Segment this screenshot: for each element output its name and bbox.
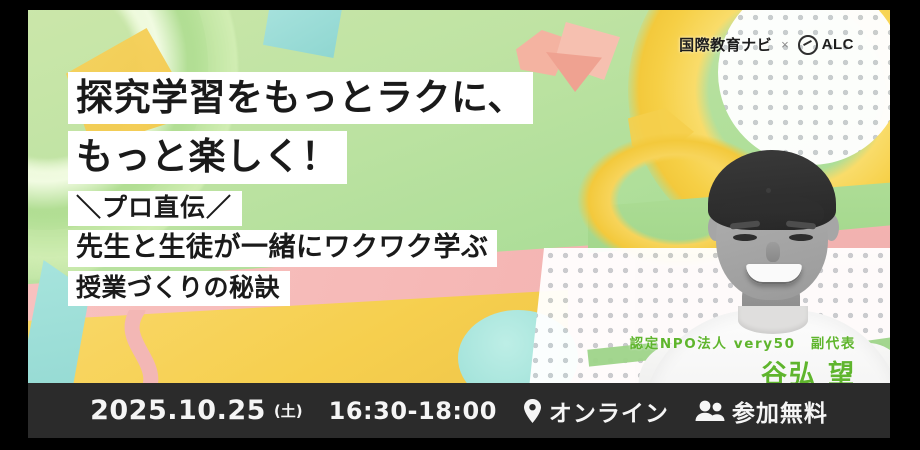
event-banner: 国際教育ナビ × ALC 探究学習をもっとラクに、 もっと楽しく！ ＼プロ直伝／… <box>28 10 890 438</box>
portrait-nose <box>766 242 780 262</box>
event-details-bar: 2025.10.25 (土) 16:30-18:00 オンライン <box>28 383 890 438</box>
portrait-hair <box>708 150 836 230</box>
partner-logos: 国際教育ナビ × ALC <box>679 34 854 55</box>
speaker-role: 認定NPO法人 very50 副代表 <box>630 332 856 352</box>
event-time: 16:30-18:00 <box>329 397 497 425</box>
event-price-group: 参加無料 <box>695 394 828 428</box>
screenshot-root: 国際教育ナビ × ALC 探究学習をもっとラクに、 もっと楽しく！ ＼プロ直伝／… <box>0 0 920 450</box>
logo-kokusai-kyoiku-navi: 国際教育ナビ <box>679 34 772 55</box>
portrait-eye-left <box>733 234 757 241</box>
headline-line-2: もっと楽しく！ <box>68 131 347 183</box>
logo-separator-x: × <box>781 37 789 52</box>
portrait-eye-right <box>789 234 813 241</box>
portrait-smile <box>746 264 802 284</box>
event-location: オンライン <box>549 394 669 428</box>
people-icon <box>695 400 725 422</box>
event-date: 2025.10.25 <box>90 395 266 426</box>
subhead-tag: ＼プロ直伝／ <box>68 191 242 226</box>
logo-alc: ALC <box>798 35 854 55</box>
alc-wordmark: ALC <box>822 36 854 53</box>
event-time-group: 16:30-18:00 <box>329 397 497 425</box>
subhead-line-2: 授業づくりの秘訣 <box>68 271 290 306</box>
event-date-group: 2025.10.25 (土) <box>90 395 303 426</box>
map-pin-icon <box>523 399 542 423</box>
event-price: 参加無料 <box>732 394 828 428</box>
event-day-of-week: (土) <box>274 400 303 421</box>
subhead-line-1: 先生と生徒が一緒にワクワク学ぶ <box>68 230 497 267</box>
portrait-mole <box>766 188 771 193</box>
alc-swirl-icon <box>798 35 818 55</box>
event-location-group: オンライン <box>523 394 669 428</box>
headline-line-1: 探究学習をもっとラクに、 <box>68 72 533 124</box>
headline-block: 探究学習をもっとラクに、 もっと楽しく！ ＼プロ直伝／ 先生と生徒が一緒にワクワ… <box>68 72 668 306</box>
